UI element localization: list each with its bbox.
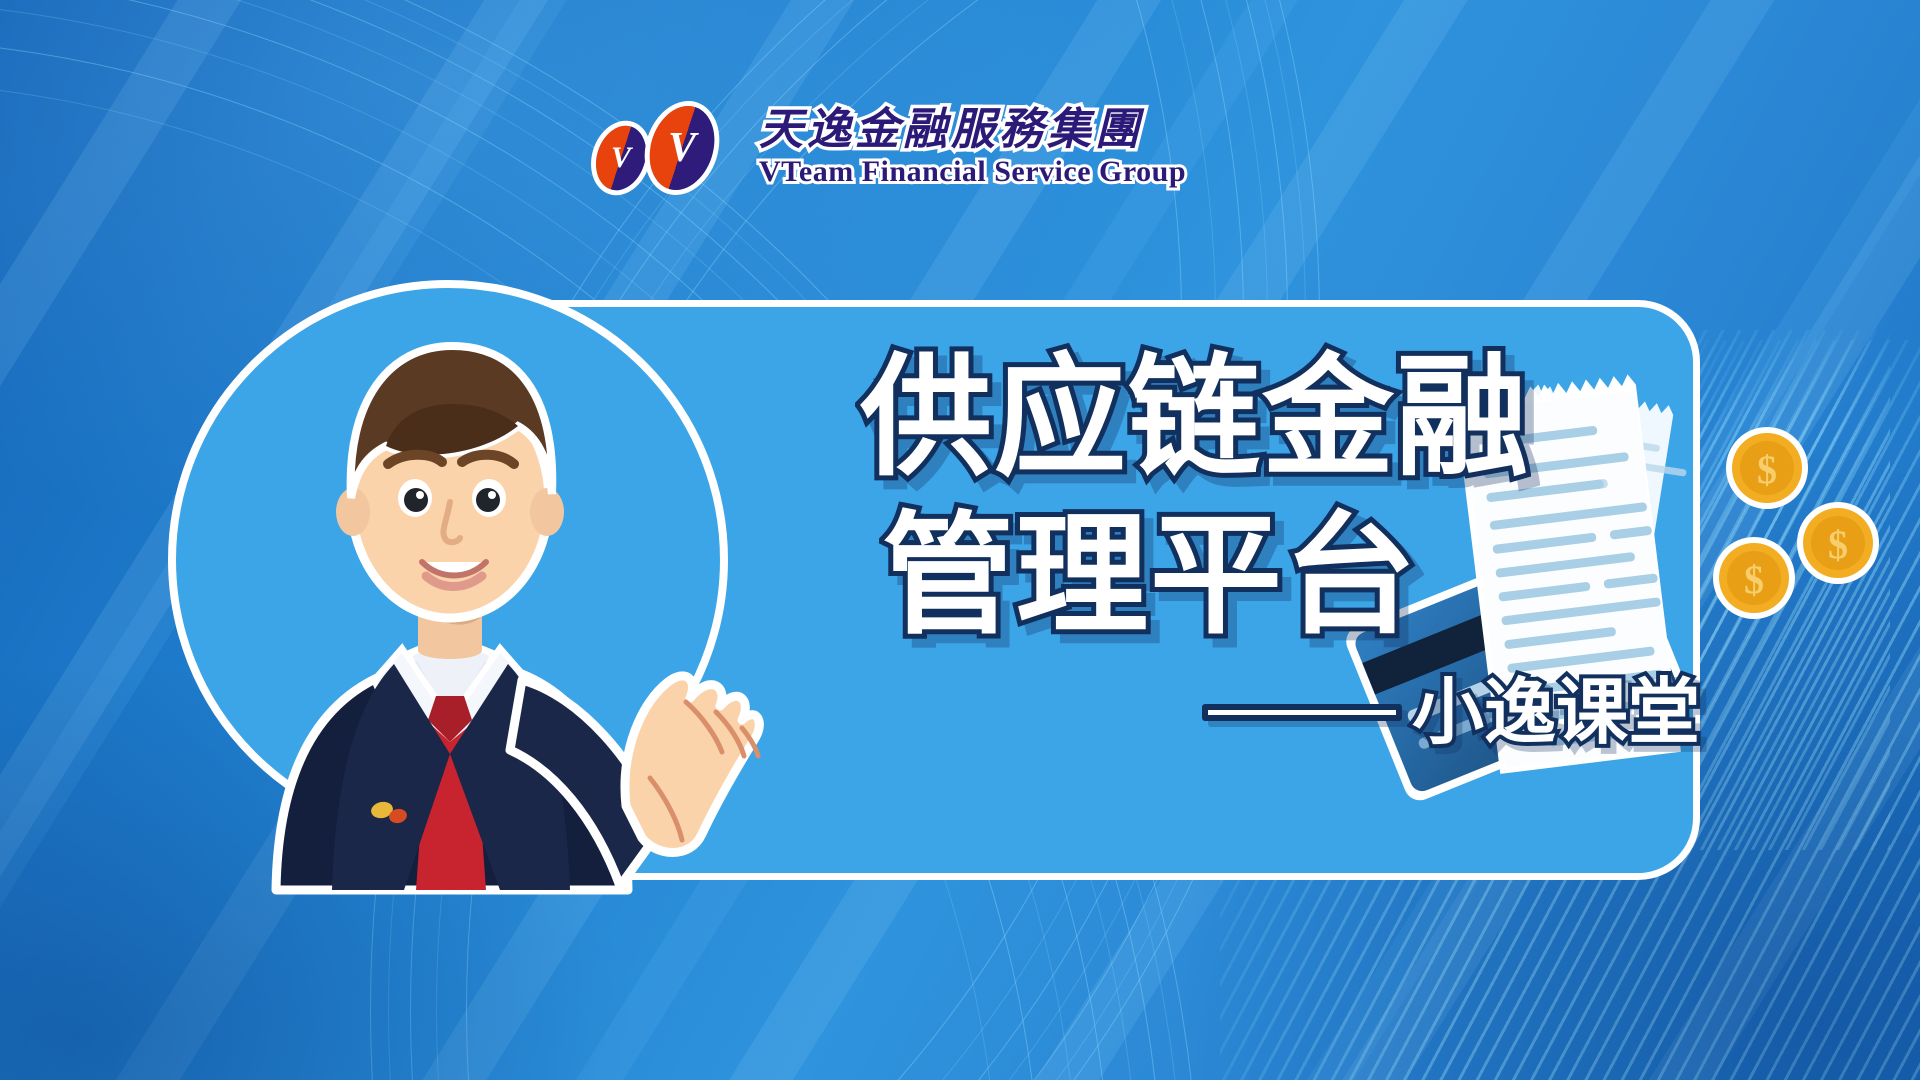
headline-block: 供应链金融 管理平台 小逸课堂: [860, 352, 1710, 748]
v-mark-large-letter: V: [668, 126, 696, 168]
businessman-avatar: [150, 250, 770, 890]
headline-line-2: 管理平台: [860, 510, 1710, 642]
banner-canvas: $ $ $ 供应链金融 管理平台 小逸课堂: [0, 0, 1920, 1080]
subtitle-dash-icon: [1202, 704, 1402, 721]
gold-coin-right: $: [1797, 502, 1879, 584]
brand-name-chinese: 天逸金融服務集團: [759, 108, 1186, 152]
v-mark-small-icon: V: [588, 119, 654, 197]
gold-coin-top: $: [1726, 427, 1808, 509]
vv-double-v-mark-icon: V V: [595, 103, 745, 193]
headline-line-1: 供应链金融: [860, 352, 1710, 484]
brand-name-english: VTeam Financial Service Group: [759, 157, 1186, 187]
svg-text:$: $: [1757, 447, 1777, 492]
subtitle-row: 小逸课堂: [860, 676, 1710, 748]
gold-coin-bottom: $: [1713, 537, 1795, 619]
subtitle-text: 小逸课堂: [1412, 676, 1700, 748]
brand-logo-text: 天逸金融服務集團 VTeam Financial Service Group: [759, 108, 1186, 187]
brand-logo[interactable]: V V 天逸金融服務集團 VTeam Financial Service Gro…: [595, 100, 1186, 195]
svg-text:$: $: [1828, 522, 1848, 567]
svg-text:$: $: [1744, 557, 1764, 602]
v-mark-large-icon: V: [639, 97, 725, 198]
v-mark-small-letter: V: [611, 142, 631, 172]
